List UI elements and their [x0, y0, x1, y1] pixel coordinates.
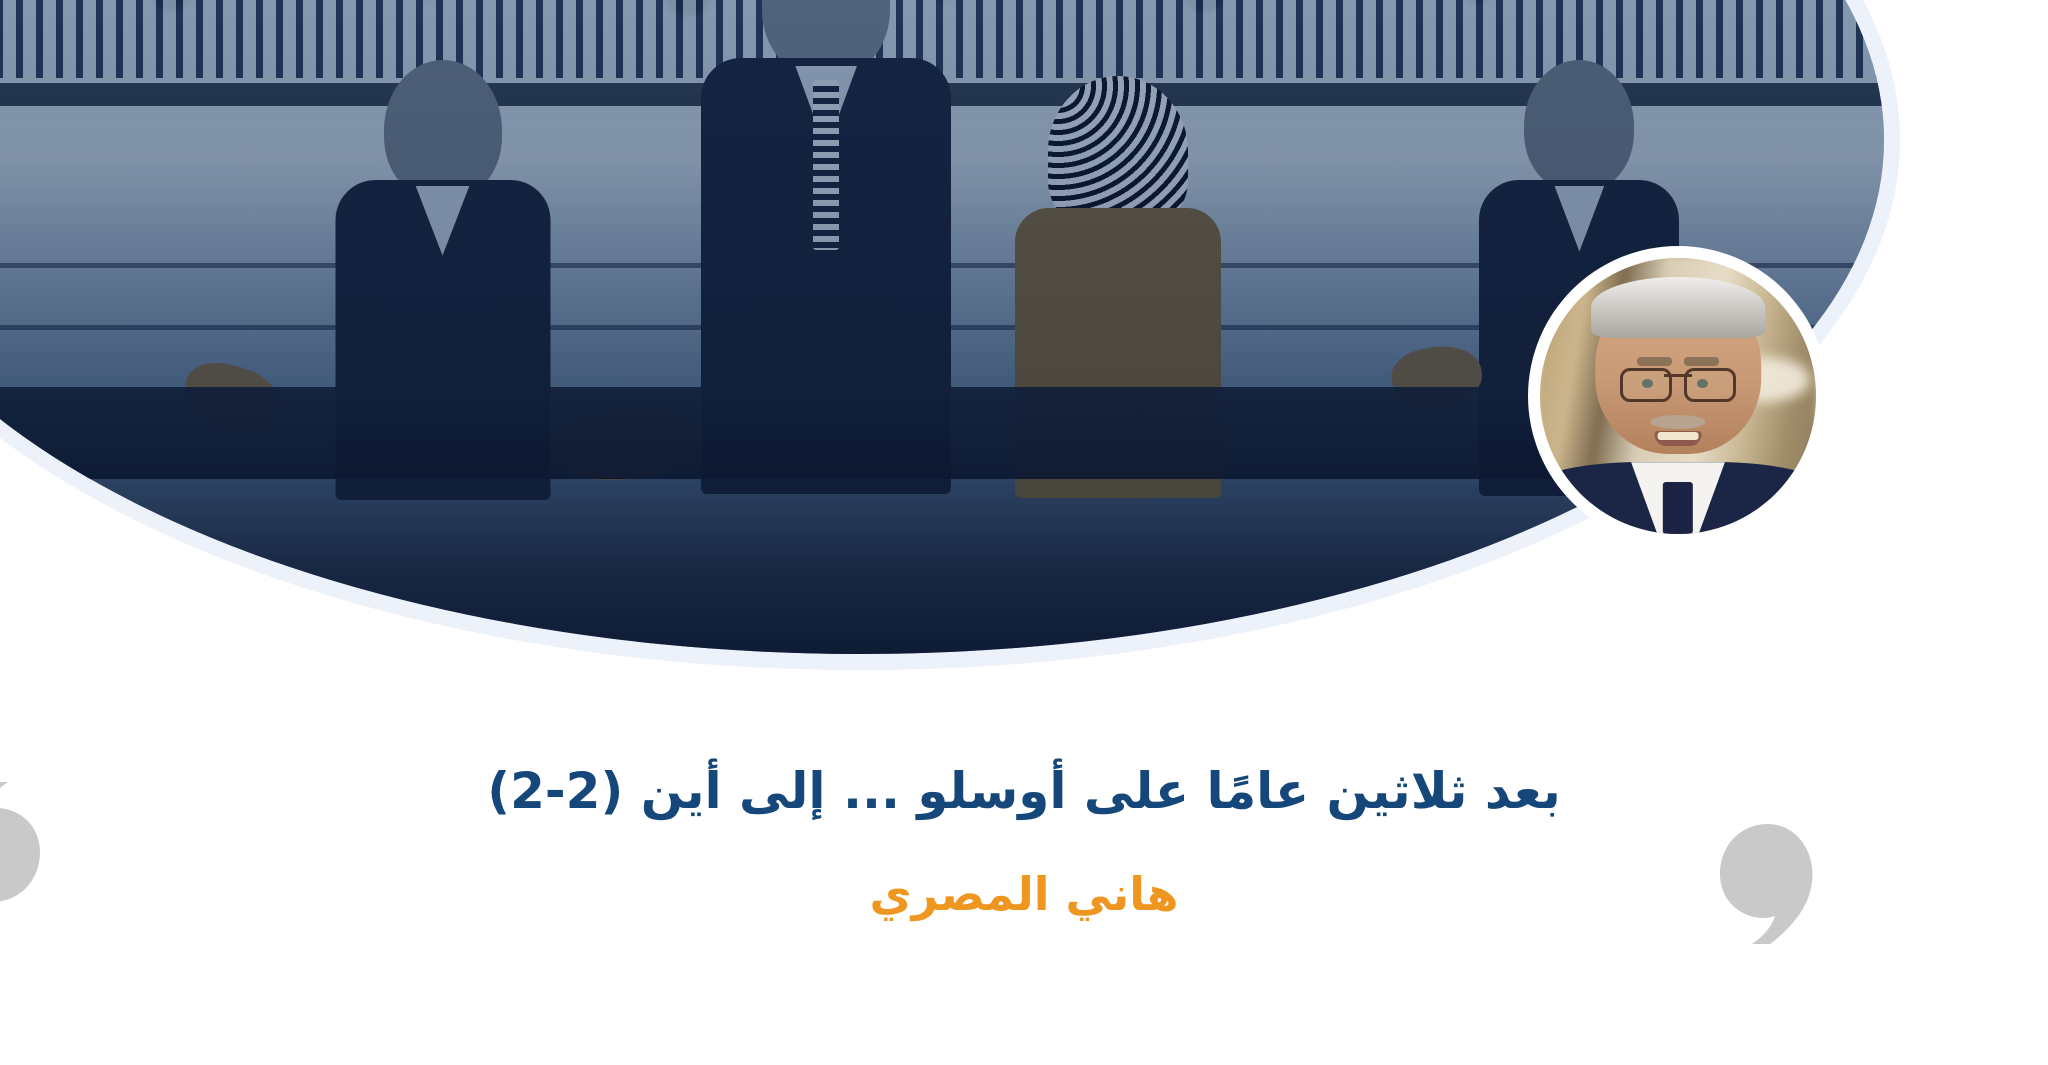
avatar-teeth	[1657, 432, 1698, 440]
avatar-eyebrow-left	[1637, 357, 1673, 365]
avatar-necktie	[1663, 482, 1693, 534]
eyeglass-bridge	[1664, 374, 1692, 377]
author-name: هاني المصري	[0, 867, 2048, 922]
article-quote-card: بعد ثلاثين عامًا على أوسلو ... إلى أين (…	[0, 0, 2048, 1065]
avatar	[1528, 246, 1828, 546]
avatar-mustache	[1650, 415, 1705, 429]
page-title: بعد ثلاثين عامًا على أوسلو ... إلى أين (…	[0, 760, 2048, 823]
avatar-mouth	[1655, 431, 1702, 446]
text-block: بعد ثلاثين عامًا على أوسلو ... إلى أين (…	[0, 760, 2048, 922]
avatar-eyebrow-right	[1684, 357, 1720, 365]
avatar-hair	[1591, 277, 1765, 338]
avatar-photo	[1540, 258, 1816, 534]
